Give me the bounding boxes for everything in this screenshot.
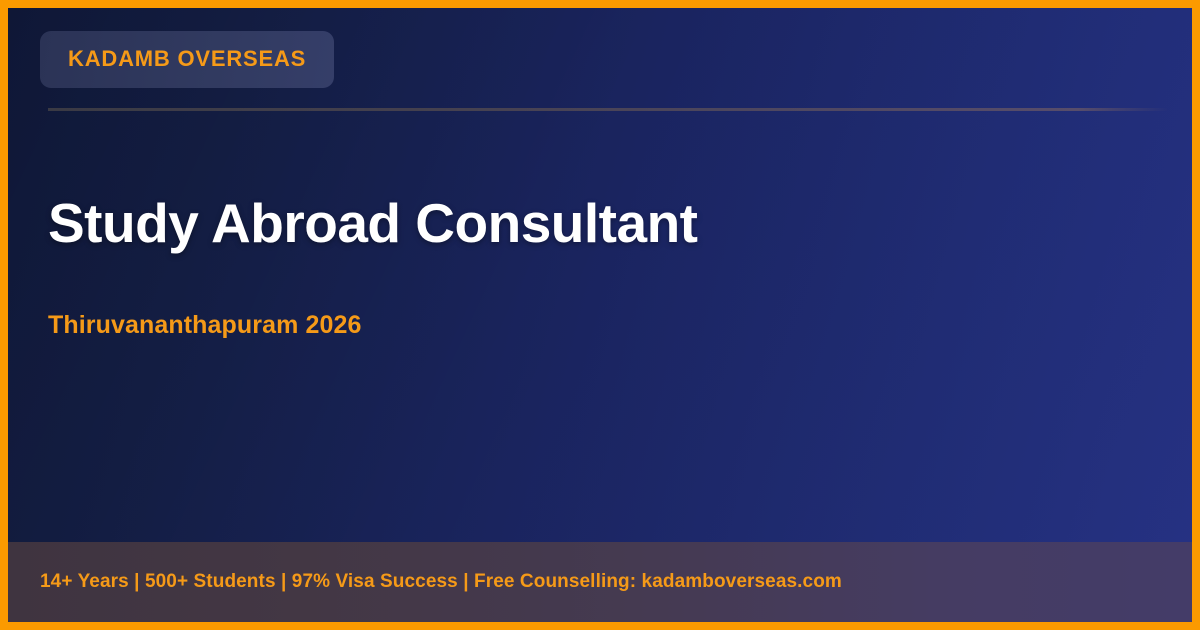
banner-header: KADAMB OVERSEAS bbox=[40, 31, 1160, 88]
brand-name-label: KADAMB OVERSEAS bbox=[68, 48, 306, 70]
location-year-subtitle: Thiruvananthapuram 2026 bbox=[48, 253, 1152, 340]
page-title: Study Abroad Consultant bbox=[48, 194, 1152, 253]
brand-logo-badge[interactable]: KADAMB OVERSEAS bbox=[40, 31, 334, 88]
promo-banner: KADAMB OVERSEAS Study Abroad Consultant … bbox=[0, 0, 1200, 630]
credentials-strip: 14+ Years | 500+ Students | 97% Visa Suc… bbox=[8, 571, 842, 593]
banner-inner: KADAMB OVERSEAS Study Abroad Consultant … bbox=[8, 8, 1192, 622]
banner-main-content: Study Abroad Consultant Thiruvananthapur… bbox=[48, 194, 1152, 340]
header-divider bbox=[48, 108, 1168, 111]
banner-footer-bar: 14+ Years | 500+ Students | 97% Visa Suc… bbox=[8, 542, 1192, 622]
